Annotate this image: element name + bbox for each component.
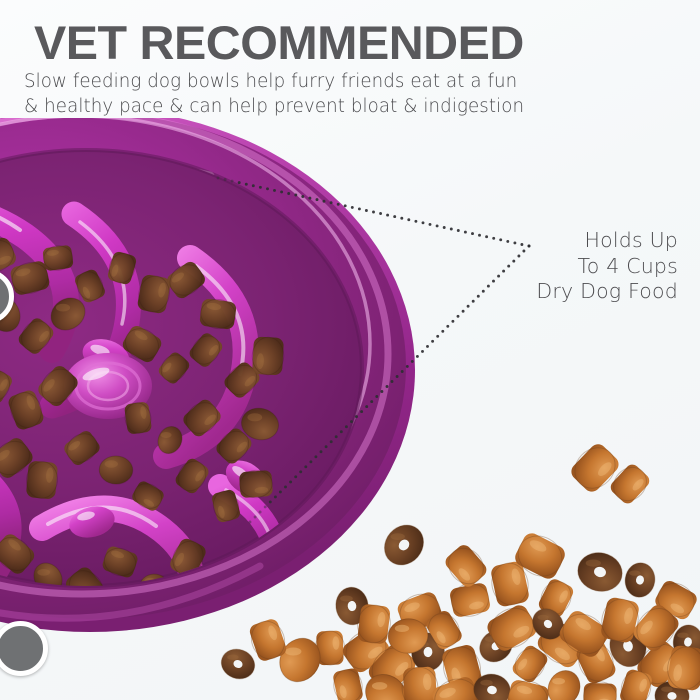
callout-line-3: Dry Dog Food (536, 279, 678, 305)
callout-line-1: Holds Up (536, 228, 678, 254)
scattered-kibble-pile (0, 0, 700, 700)
callout-line-2: To 4 Cups (536, 254, 678, 280)
capacity-callout: Holds Up To 4 Cups Dry Dog Food (536, 228, 678, 305)
product-marketing-image: VET RECOMMENDED Slow feeding dog bowls h… (0, 0, 700, 700)
